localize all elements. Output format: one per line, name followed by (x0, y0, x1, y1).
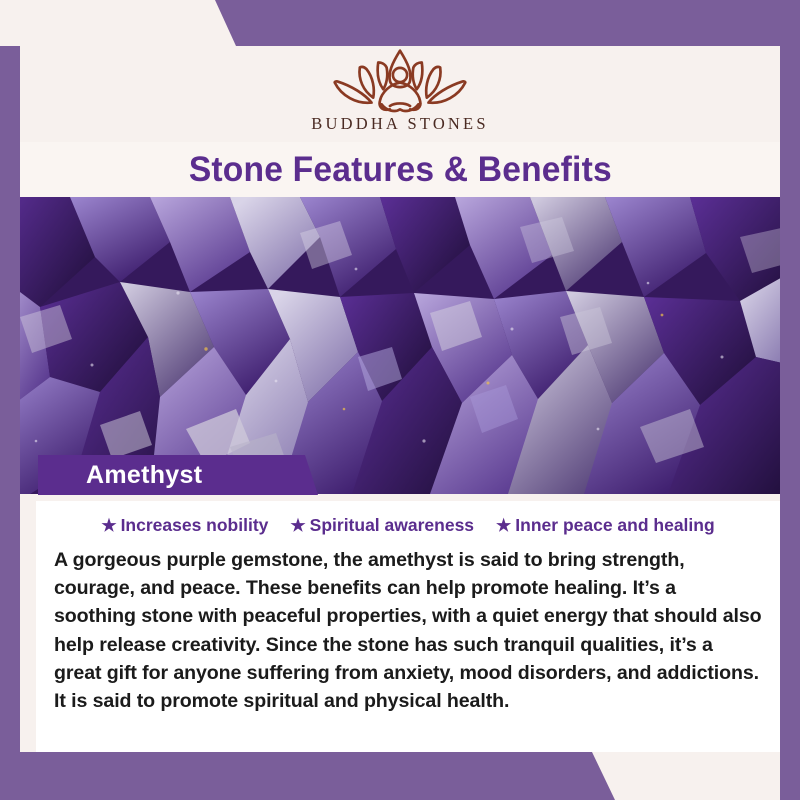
brand-name: BUDDHA STONES (311, 114, 488, 134)
stone-name-label: Amethyst (86, 461, 202, 490)
frame-left-accent (0, 46, 20, 800)
star-icon: ★ (290, 517, 305, 534)
stone-name-banner: Amethyst (38, 455, 318, 495)
frame-top-accent (0, 0, 800, 46)
feature-label-0: Increases nobility (121, 515, 269, 536)
page-title: Stone Features & Benefits (188, 150, 611, 190)
feature-item-1: ★ Spiritual awareness (290, 515, 474, 536)
feature-list: ★ Increases nobility ★ Spiritual awarene… (36, 501, 780, 536)
amethyst-hero-image (20, 197, 780, 494)
lotus-meditation-figure-icon (315, 46, 485, 116)
brand-logo-block: BUDDHA STONES (20, 46, 780, 141)
feature-label-1: Spiritual awareness (310, 515, 474, 536)
poster-inner-page: BUDDHA STONES Stone Features & Benefits (20, 46, 780, 752)
crystal-cluster-illustration (20, 197, 780, 494)
frame-right-accent (780, 0, 800, 800)
star-icon: ★ (101, 517, 116, 534)
stone-details-card: ★ Increases nobility ★ Spiritual awarene… (36, 501, 780, 752)
star-icon: ★ (496, 517, 511, 534)
frame-bottom-accent (0, 752, 800, 800)
feature-item-2: ★ Inner peace and healing (496, 515, 715, 536)
page-title-bar: Stone Features & Benefits (20, 142, 780, 197)
stone-info-poster: BUDDHA STONES Stone Features & Benefits (0, 0, 800, 800)
feature-label-2: Inner peace and healing (515, 515, 714, 536)
feature-item-0: ★ Increases nobility (101, 515, 268, 536)
stone-description: A gorgeous purple gemstone, the amethyst… (54, 546, 762, 715)
